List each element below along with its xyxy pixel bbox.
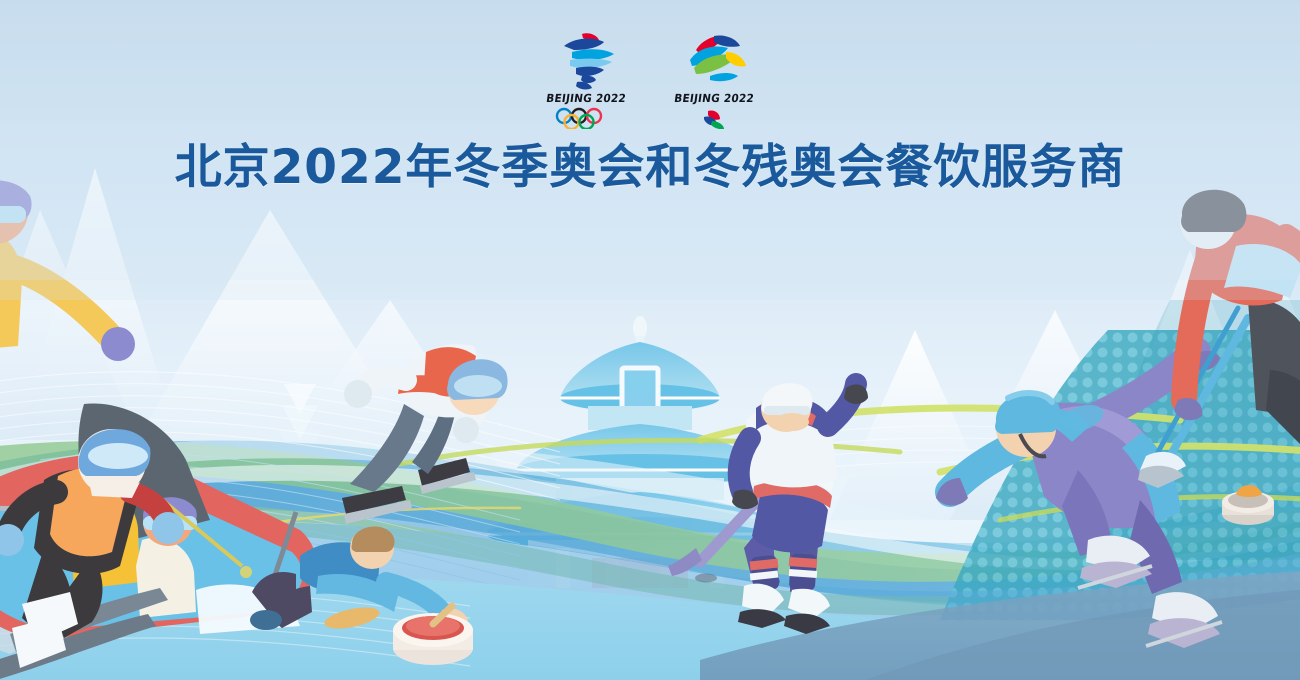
beijing-2022-banner: BEIJING 2022 — [0, 0, 1300, 680]
paralympic-agitos-icon — [678, 107, 750, 129]
olympic-rings-icon — [550, 107, 622, 129]
beijing-2022-paralympic-logo: BEIJING 2022 — [664, 30, 764, 135]
paralympic-wordmark: BEIJING 2022 — [663, 93, 765, 106]
paralympic-emblem-icon — [664, 30, 764, 92]
beijing-2022-olympic-logo: BEIJING 2022 — [536, 30, 636, 135]
logo-row: BEIJING 2022 — [0, 30, 1300, 140]
page-title: 北京2022年冬季奥会和冬残奥会餐饮服务商 — [0, 140, 1300, 195]
olympic-emblem-icon — [536, 30, 636, 92]
olympic-wordmark: BEIJING 2022 — [535, 93, 637, 106]
